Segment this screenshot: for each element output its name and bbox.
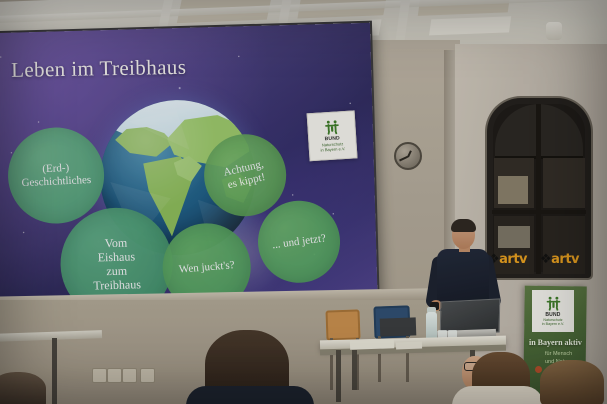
window-rail: [492, 210, 586, 214]
paper-sheet: [350, 339, 394, 350]
ceiling-panel: [429, 16, 511, 35]
bubble-line: Treibhaus: [93, 277, 141, 292]
table-leg: [352, 350, 357, 390]
power-socket[interactable]: [107, 368, 122, 383]
window-pane: [543, 158, 585, 208]
table-leg: [52, 338, 57, 404]
bubble-line: Geschichtliches: [21, 174, 91, 190]
banner-subtext-line1: für Mensch: [545, 350, 589, 358]
second-laptop[interactable]: [380, 317, 417, 336]
projection-screen: Leben im Treibhaus (Erd-) Geschichtliche…: [0, 23, 378, 320]
speaker-hair: [451, 219, 476, 232]
window-logo-text: artv: [499, 252, 527, 267]
power-socket[interactable]: [92, 368, 107, 383]
slide-title: Leben im Treibhaus: [11, 55, 187, 83]
chair-wood[interactable]: [325, 309, 360, 340]
paper-sheet: [396, 342, 422, 350]
power-socket[interactable]: [140, 368, 155, 383]
lecture-room-photo: ❖artv ❖artv Leben im Treibhaus (Erd-) Ge…: [0, 0, 607, 404]
table-leg: [336, 350, 341, 402]
audience-member-shoulders: [186, 386, 314, 404]
power-socket[interactable]: [122, 368, 137, 383]
banner-claim: in Bayern aktiv: [529, 338, 585, 347]
slide-bund-logo: BUND Naturschutz in Bayern e.V.: [307, 110, 358, 161]
window-logo-artv: ❖artv: [540, 252, 579, 267]
banner-bund-logo: BUND Naturschutz in Bayern e.V.: [532, 290, 574, 332]
audience-member-head: [0, 372, 46, 404]
bubble-line: Wen juckt's?: [178, 259, 235, 276]
bund-subtitle-line2: in Bayern e.V.: [542, 322, 564, 326]
bund-subtitle-line2: in Bayern e.V.: [320, 146, 345, 153]
audience-member-shoulders: [452, 386, 544, 404]
window-logo-text: artv: [551, 252, 579, 267]
window-light-reflection: [498, 226, 530, 248]
bund-figure-icon: [545, 296, 562, 311]
audience-member-head: [540, 360, 604, 404]
bubble-line: Vom: [92, 235, 140, 250]
smoke-detector: [546, 22, 562, 40]
window-light-reflection: [498, 176, 528, 204]
bubble-line: zum: [93, 263, 141, 278]
clock-hand-minute: [399, 156, 408, 161]
bubble-line: Eishaus: [92, 249, 140, 264]
bubble-line: ... und jetzt?: [271, 232, 326, 252]
wall-clock-icon: [394, 142, 422, 170]
banner-accent-dot: [535, 366, 542, 373]
window-mullion: [536, 104, 541, 274]
bund-figure-icon: [323, 119, 341, 135]
